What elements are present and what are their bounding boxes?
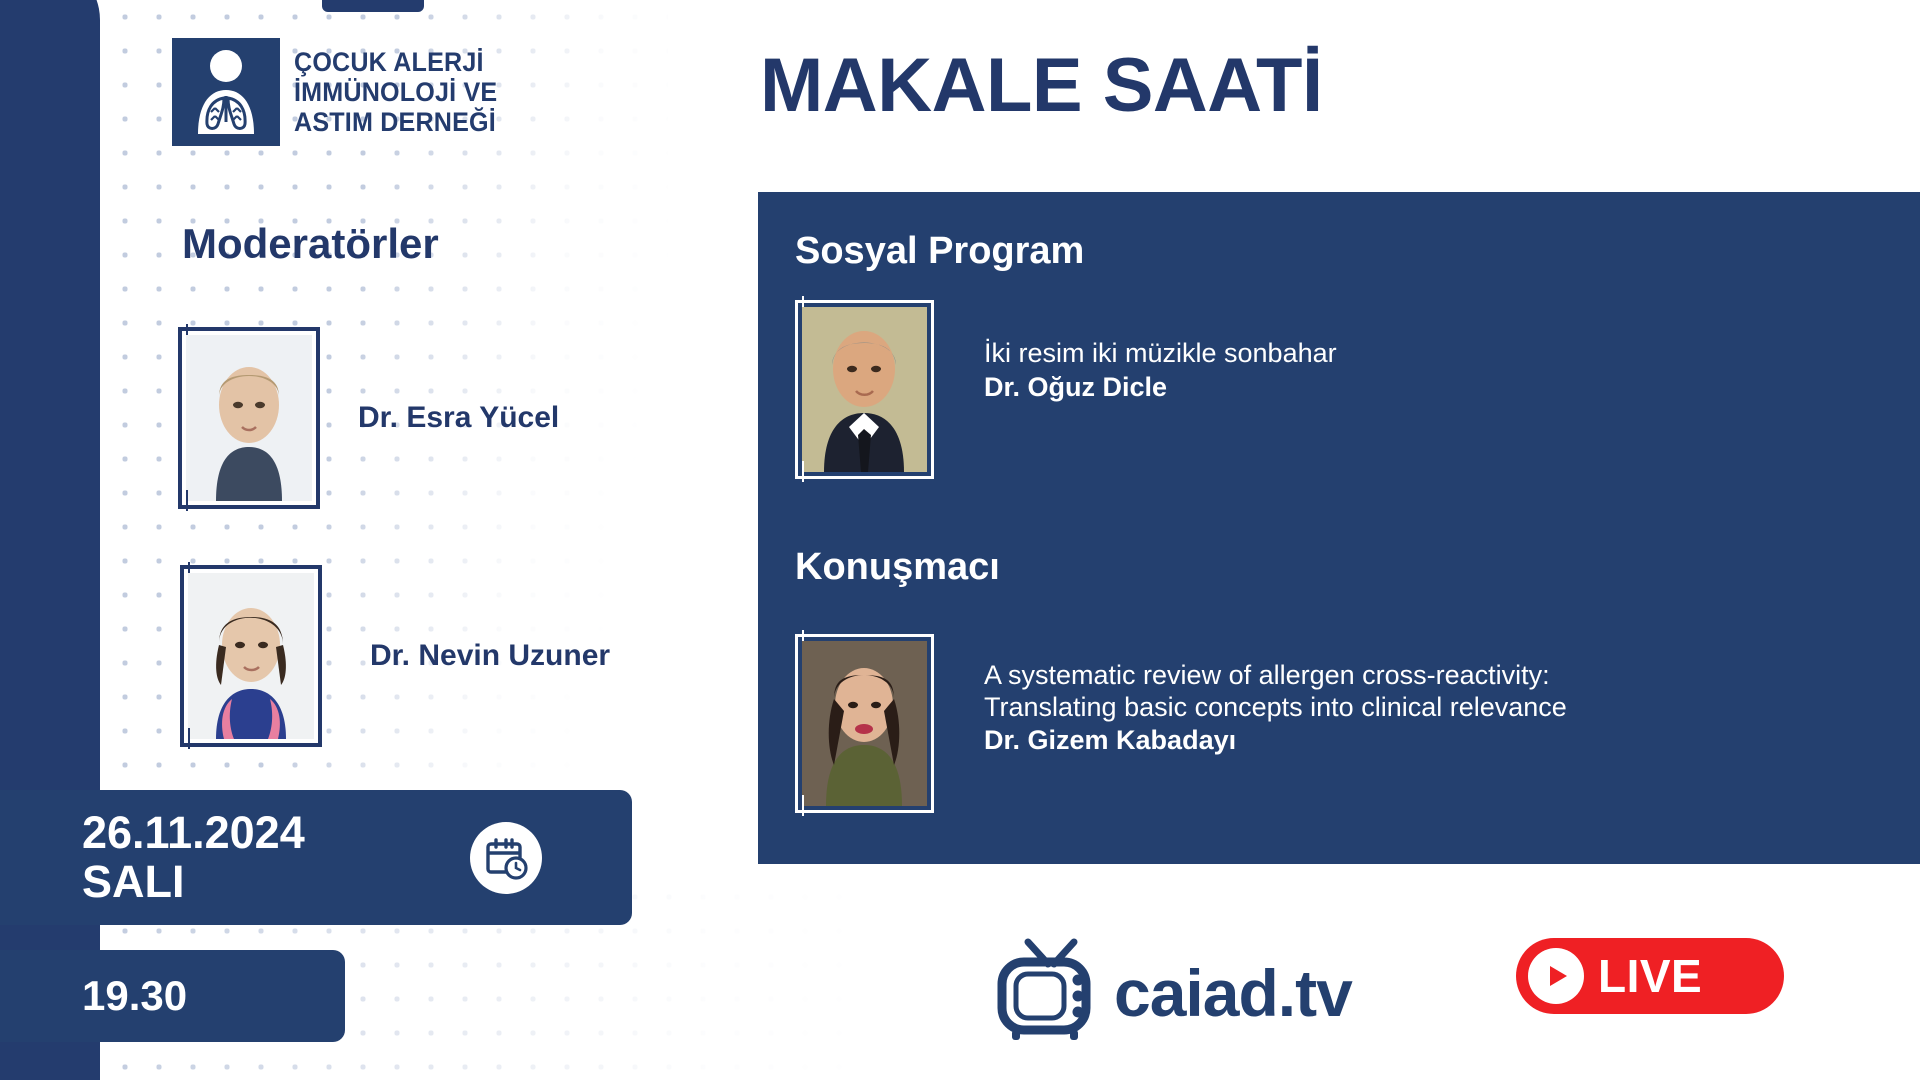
logo-line-1: ÇOCUK ALERJİ [294,47,497,77]
section-heading-sosyal-program: Sosyal Program [795,230,1084,273]
date-block: 26.11.2024 SALI [0,790,632,925]
association-logo-text: ÇOCUK ALERJİ İMMÜNOLOJİ VE ASTIM DERNEĞİ [294,47,497,138]
live-badge[interactable]: LIVE [1516,938,1784,1014]
logo-line-2: İMMÜNOLOJİ VE [294,77,497,107]
calendar-clock-icon [470,822,542,894]
retro-tv-icon [990,938,1108,1047]
talk-title: İki resim iki müzikle sonbahar [984,338,1337,370]
moderator-name: Dr. Nevin Uzuner [370,639,610,673]
live-label: LIVE [1598,949,1702,1003]
play-circle-icon [1528,948,1584,1004]
poster-canvas: ÇOCUK ALERJİ İMMÜNOLOJİ VE ASTIM DERNEĞİ… [0,0,1920,1080]
talk-text: İki resim iki müzikle sonbahar Dr. Oğuz … [984,300,1337,403]
talk-row: İki resim iki müzikle sonbahar Dr. Oğuz … [795,300,1337,479]
talk-title: A systematic review of allergen cross-re… [984,660,1567,723]
moderator-row: Dr. Nevin Uzuner [180,565,610,747]
talk-speaker: Dr. Oğuz Dicle [984,372,1337,404]
association-logo: ÇOCUK ALERJİ İMMÜNOLOJİ VE ASTIM DERNEĞİ [172,38,513,146]
child-lungs-logo-icon [172,38,280,146]
moderator-photo-esra-yucel [178,327,320,509]
moderator-name: Dr. Esra Yücel [358,401,559,435]
top-accent-tab [322,0,424,12]
page-title: MAKALE SAATİ [760,42,1323,129]
caiad-tv-logo[interactable]: caiad.tv [990,938,1352,1047]
time-block: 19.30 [0,950,345,1042]
caiad-tv-label: caiad.tv [1114,955,1352,1031]
moderator-photo-nevin-uzuner [180,565,322,747]
footer-right-strip [1810,868,1920,1080]
event-time: 19.30 [82,972,187,1020]
section-heading-konusmaci: Konuşmacı [795,546,1000,589]
speaker-photo-gizem-kabadayi [795,634,934,813]
logo-line-3: ASTIM DERNEĞİ [294,107,497,137]
talk-row: A systematic review of allergen cross-re… [795,634,1567,813]
talk-speaker: Dr. Gizem Kabadayı [984,725,1567,757]
moderator-row: Dr. Esra Yücel [178,327,559,509]
event-date: 26.11.2024 SALI [82,809,305,905]
talk-text: A systematic review of allergen cross-re… [984,634,1567,757]
moderators-heading: Moderatörler [182,220,439,268]
speaker-photo-oguz-dicle [795,300,934,479]
